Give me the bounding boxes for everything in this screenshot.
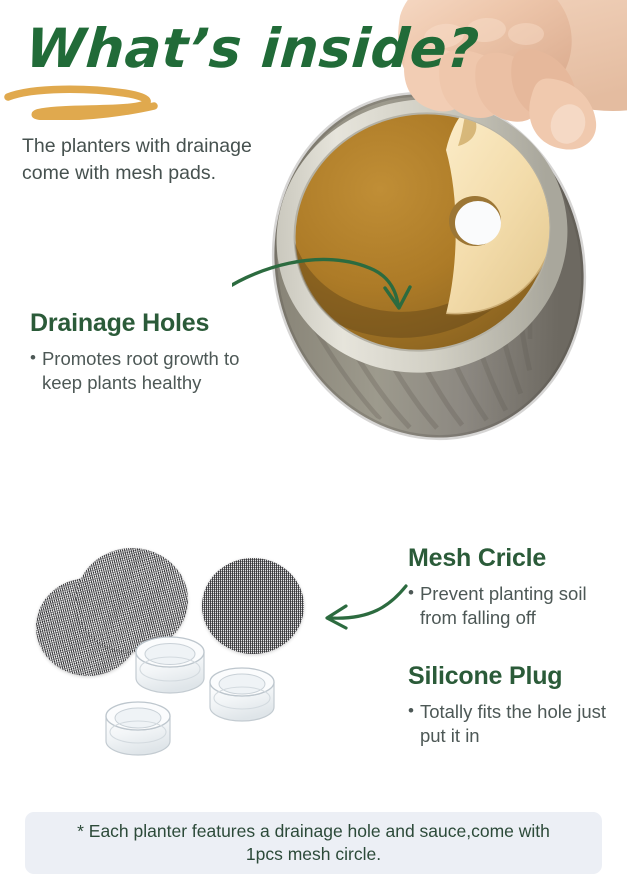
drainage-hole — [449, 196, 501, 246]
bullet-text: Prevent planting soil from falling off — [420, 582, 623, 631]
subtitle: The planters with drainage come with mes… — [22, 133, 297, 187]
footer-note-box: * Each planter features a drainage hole … — [25, 812, 602, 874]
footer-note-text: * Each planter features a drainage hole … — [67, 820, 560, 867]
section-drainage-holes: Drainage Holes • Promotes root growth to… — [30, 310, 280, 395]
section-heading-plug: Silicone Plug — [408, 663, 623, 691]
arrow-to-mesh-icon — [312, 578, 412, 638]
page-title: What’s inside? — [24, 22, 388, 76]
section-mesh-circle: Mesh Cricle • Prevent planting soil from… — [408, 545, 623, 630]
parts-photo — [18, 530, 338, 775]
bullet-text: Totally fits the hole just put it in — [420, 700, 623, 749]
bullet-marker-icon: • — [30, 347, 36, 396]
infographic-page: What’s inside? The planters with drainag… — [0, 0, 627, 879]
section-bullet-drainage: • Promotes root growth to keep plants he… — [30, 347, 280, 396]
silicone-plug — [210, 668, 274, 721]
title-underline-swoosh-icon — [4, 84, 204, 120]
section-heading-mesh: Mesh Cricle — [408, 545, 623, 573]
section-silicone-plug: Silicone Plug • Totally fits the hole ju… — [408, 663, 623, 748]
silicone-plugs — [18, 530, 338, 775]
bullet-marker-icon: • — [408, 700, 414, 749]
title-block: What’s inside? — [26, 22, 386, 76]
bullet-marker-icon: • — [408, 582, 414, 631]
section-bullet-mesh: • Prevent planting soil from falling off — [408, 582, 623, 631]
section-bullet-plug: • Totally fits the hole just put it in — [408, 700, 623, 749]
section-heading-drainage: Drainage Holes — [30, 310, 280, 338]
silicone-plug — [136, 637, 204, 693]
bullet-text: Promotes root growth to keep plants heal… — [42, 347, 280, 396]
silicone-plug — [106, 702, 170, 755]
